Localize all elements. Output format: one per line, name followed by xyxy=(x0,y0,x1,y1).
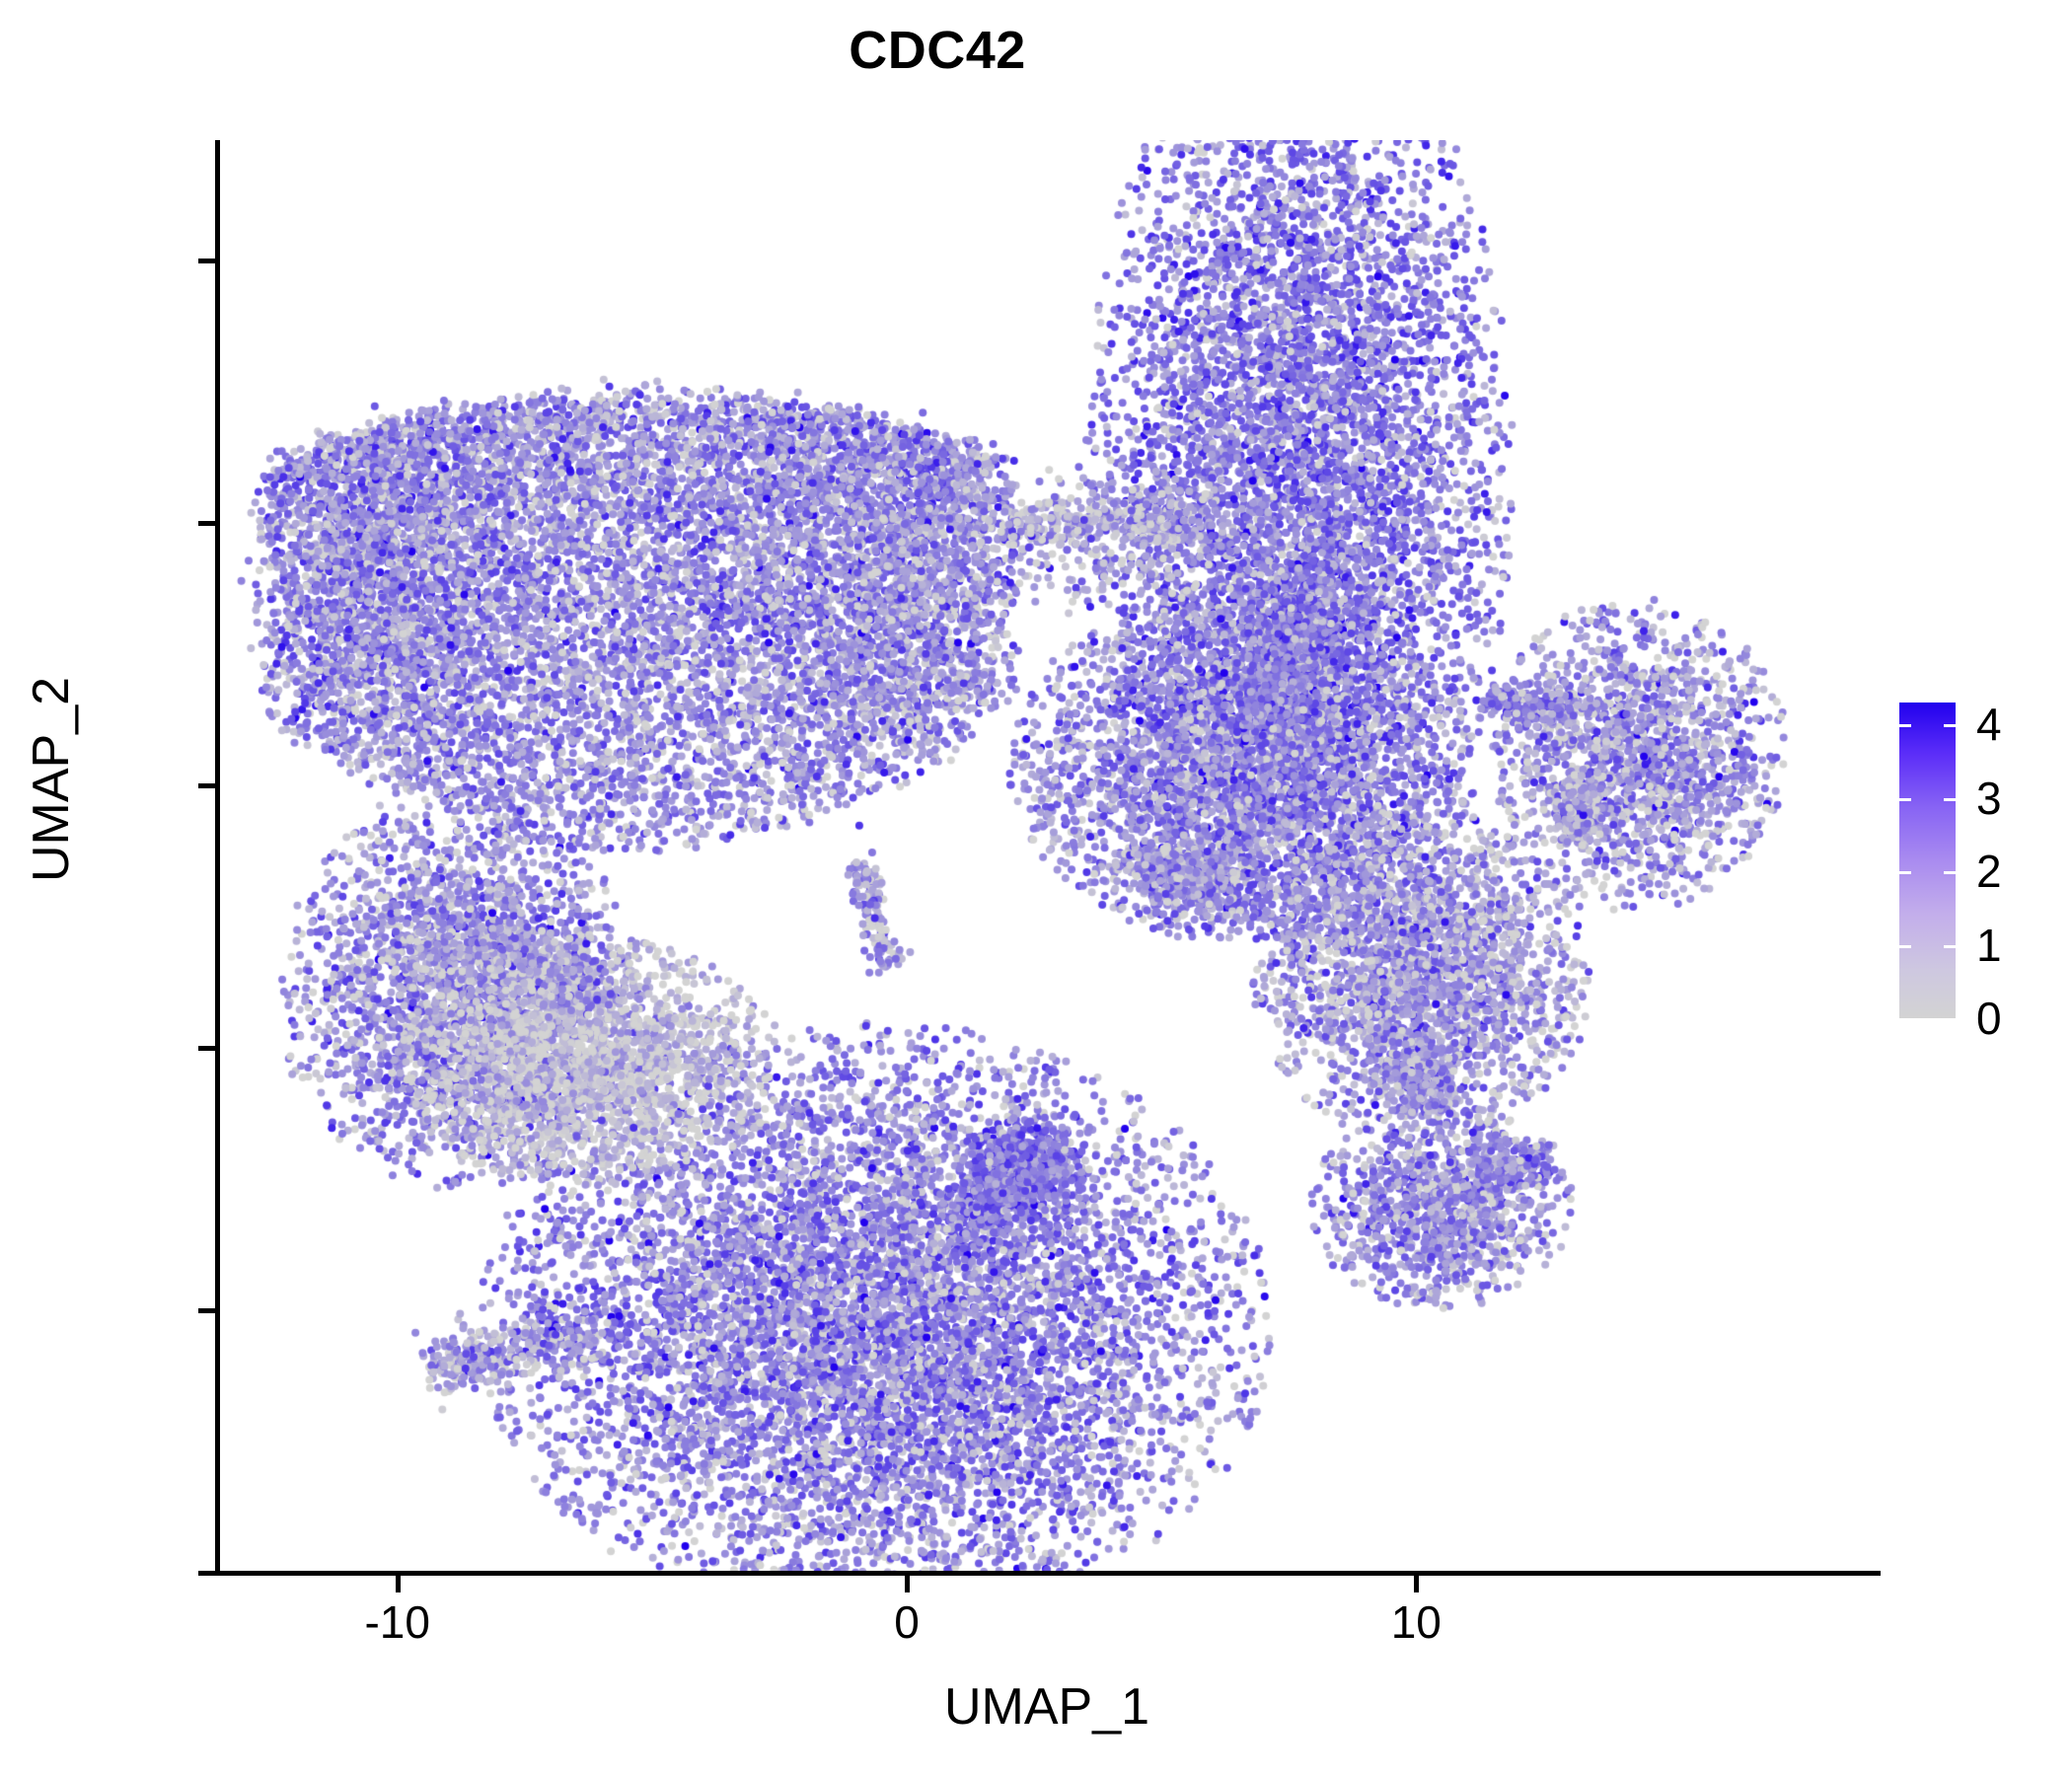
legend-label: 3 xyxy=(1976,772,2002,825)
legend-label: 0 xyxy=(1976,992,2002,1045)
legend-tick-mark xyxy=(1944,871,1956,874)
x-tick-mark xyxy=(396,1576,401,1592)
y-axis-title: UMAP_2 xyxy=(22,562,81,997)
legend-colorbar xyxy=(1899,703,1956,1018)
x-axis-line xyxy=(215,1571,1881,1576)
x-tick-mark xyxy=(1414,1576,1419,1592)
y-tick-mark xyxy=(198,1308,215,1313)
legend-tick-mark xyxy=(1899,798,1911,801)
y-tick-mark xyxy=(198,1046,215,1051)
y-tick-mark xyxy=(198,1571,215,1576)
scatter-plot-points xyxy=(219,140,1875,1573)
legend-label: 1 xyxy=(1976,919,2002,972)
x-axis-title: UMAP_1 xyxy=(219,1677,1875,1737)
plot-panel xyxy=(219,140,1875,1573)
y-tick-mark xyxy=(198,259,215,263)
legend-tick-mark xyxy=(1944,724,1956,727)
legend-tick-mark xyxy=(1899,945,1911,948)
y-tick-mark xyxy=(198,783,215,788)
y-tick-mark xyxy=(198,521,215,526)
x-tick-label: 10 xyxy=(1391,1595,1442,1649)
x-tick-mark xyxy=(905,1576,910,1592)
x-tick-label: 0 xyxy=(894,1595,920,1649)
color-legend: 43210 xyxy=(1899,703,2067,1028)
umap-feature-plot: CDC42 1050-5-10-15 -10010 UMAP_2 UMAP_1 … xyxy=(0,0,2072,1776)
legend-tick-mark xyxy=(1944,945,1956,948)
y-axis-line xyxy=(215,140,220,1576)
legend-label: 2 xyxy=(1976,845,2002,898)
legend-tick-mark xyxy=(1899,871,1911,874)
x-tick-label: -10 xyxy=(364,1595,429,1649)
legend-tick-mark xyxy=(1944,798,1956,801)
legend-label: 4 xyxy=(1976,698,2002,751)
page-title: CDC42 xyxy=(0,20,1875,81)
legend-tick-mark xyxy=(1899,724,1911,727)
